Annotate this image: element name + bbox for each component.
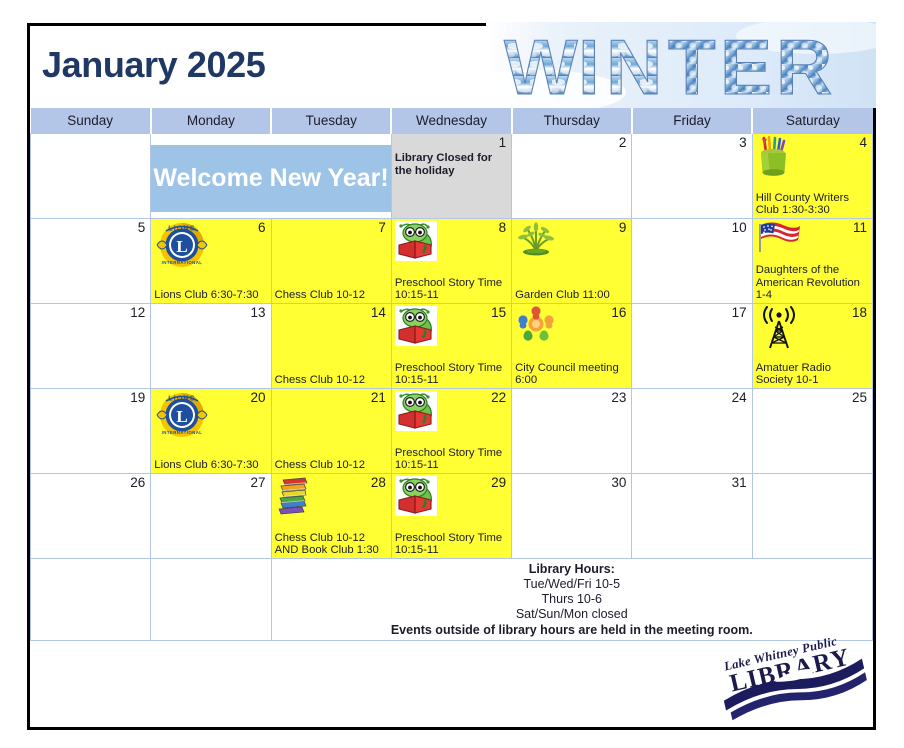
calendar-week-row: 26 27 28 (31, 474, 873, 559)
day-number: 5 (138, 220, 146, 235)
bookworm-icon (395, 221, 437, 261)
day-cell-19[interactable]: 19 (31, 389, 151, 474)
day-cell-empty (752, 474, 872, 559)
calendar-week-row: 5 6 L (31, 219, 873, 304)
weekday-header-friday: Friday (632, 108, 752, 134)
library-logo: Lake Whitney Public LIBRARY (714, 628, 869, 723)
day-cell-4[interactable]: 4 (752, 134, 872, 219)
weekday-header-wednesday: Wednesday (391, 108, 511, 134)
day-cell-2[interactable]: 2 (512, 134, 632, 219)
day-cell-21[interactable]: 21 Chess Club 10-12 (271, 389, 391, 474)
day-number: 31 (732, 475, 747, 490)
day-number: 30 (611, 475, 626, 490)
page-header: January 2025 (30, 26, 873, 108)
bookworm-icon (395, 476, 437, 516)
community-people-icon (515, 306, 557, 342)
day-cell-16[interactable]: 16 (512, 304, 632, 389)
day-cell-empty (31, 134, 151, 219)
svg-text:R: R (776, 23, 834, 108)
day-cell-13[interactable]: 13 (151, 304, 271, 389)
day-cell-8[interactable]: 8 (391, 219, 511, 304)
day-event-text: City Council meeting 6:00 (515, 362, 629, 387)
day-event-text: Hill County Writers Club 1:30-3:30 (756, 192, 870, 217)
day-number: 18 (852, 305, 867, 320)
day-cell-10[interactable]: 10 (632, 219, 752, 304)
day-number: 28 (371, 475, 386, 490)
day-number: 13 (251, 305, 266, 320)
day-number: 3 (739, 135, 747, 150)
day-cell-5[interactable]: 5 (31, 219, 151, 304)
calendar-week-row: 12 13 14 Chess Club 10-12 15 (31, 304, 873, 389)
bookworm-icon (395, 391, 437, 431)
day-number: 10 (732, 220, 747, 235)
book-stack-icon (275, 476, 313, 516)
day-cell-1[interactable]: 1 Library Closed for the holiday (391, 134, 511, 219)
day-event-text: Chess Club 10-12 (275, 374, 389, 387)
svg-text:L: L (177, 407, 188, 426)
day-cell-17[interactable]: 17 (632, 304, 752, 389)
welcome-new-year-banner: Welcome New Year! (151, 134, 392, 219)
day-number: 17 (732, 305, 747, 320)
day-event-text: Daughters of the American Revolution 1-4 (756, 264, 870, 302)
svg-text:INTERNATIONAL: INTERNATIONAL (162, 260, 203, 265)
day-event-text: Preschool Story Time 10:15-11 (395, 447, 509, 472)
day-number: 7 (378, 220, 386, 235)
svg-text:T: T (668, 23, 718, 108)
weekday-header-sunday: Sunday (31, 108, 151, 134)
day-cell-18[interactable]: 18 (752, 304, 872, 389)
weekday-header-row: Sunday Monday Tuesday Wednesday Thursday… (31, 108, 873, 134)
day-event-text: Chess Club 10-12 AND Book Club 1:30 (275, 532, 389, 557)
day-cell-22[interactable]: 22 (391, 389, 511, 474)
svg-text:INTERNATIONAL: INTERNATIONAL (162, 430, 203, 435)
weekday-header-tuesday: Tuesday (271, 108, 391, 134)
lions-club-logo-icon: L LIONS INTERNATIONAL (154, 391, 210, 439)
day-number: 15 (491, 305, 506, 320)
day-number: 1 (499, 135, 507, 150)
day-number: 27 (251, 475, 266, 490)
day-cell-23[interactable]: 23 (512, 389, 632, 474)
day-number: 14 (371, 305, 386, 320)
day-cell-26[interactable]: 26 (31, 474, 151, 559)
footer-empty-cell (31, 559, 151, 641)
calendar-page: January 2025 (27, 23, 876, 730)
day-cell-29[interactable]: 29 (391, 474, 511, 559)
library-hours-line: Tue/Wed/Fri 10-5 (276, 577, 868, 592)
svg-text:LIONS: LIONS (169, 396, 196, 403)
day-number: 26 (130, 475, 145, 490)
day-number: 23 (611, 390, 626, 405)
day-cell-3[interactable]: 3 (632, 134, 752, 219)
svg-text:L: L (177, 237, 188, 256)
library-hours-line: Thurs 10-6 (276, 592, 868, 607)
day-event-text: Lions Club 6:30-7:30 (154, 459, 268, 472)
day-event-text: Amatuer Radio Society 10-1 (756, 362, 870, 387)
day-number: 6 (258, 220, 266, 235)
day-number: 21 (371, 390, 386, 405)
welcome-banner-text: Welcome New Year! (151, 145, 391, 212)
day-cell-14[interactable]: 14 Chess Club 10-12 (271, 304, 391, 389)
day-cell-30[interactable]: 30 (512, 474, 632, 559)
calendar-week-row: 19 20 (31, 389, 873, 474)
day-cell-7[interactable]: 7 Chess Club 10-12 (271, 219, 391, 304)
library-hours-line: Sat/Sun/Mon closed (276, 607, 868, 622)
day-number: 2 (619, 135, 627, 150)
day-cell-9[interactable]: 9 (512, 219, 632, 304)
winter-season-artwork: W I N T E R (486, 22, 876, 108)
weekday-header-thursday: Thursday (512, 108, 632, 134)
svg-text:W: W (504, 23, 580, 108)
day-cell-11[interactable]: 11 (752, 219, 872, 304)
day-number: 8 (499, 220, 507, 235)
svg-text:LIONS: LIONS (169, 226, 196, 233)
day-event-text: Preschool Story Time 10:15-11 (395, 362, 509, 387)
day-event-text: Preschool Story Time 10:15-11 (395, 532, 509, 557)
day-cell-25[interactable]: 25 (752, 389, 872, 474)
day-event-text: Chess Club 10-12 (275, 459, 389, 472)
weekday-header-saturday: Saturday (752, 108, 872, 134)
calendar-grid: Sunday Monday Tuesday Wednesday Thursday… (30, 108, 873, 727)
day-number: 19 (130, 390, 145, 405)
day-event-text: Library Closed for the holiday (395, 152, 509, 178)
plant-sprout-icon (515, 221, 557, 257)
day-cell-31[interactable]: 31 (632, 474, 752, 559)
bookworm-icon (395, 306, 437, 346)
lions-club-logo-icon: L LIONS INTERNATIONAL (154, 221, 210, 269)
day-number: 4 (859, 135, 867, 150)
day-number: 24 (732, 390, 747, 405)
svg-text:I: I (578, 23, 602, 108)
radio-tower-icon (756, 306, 802, 350)
day-cell-20[interactable]: 20 L LIONS (151, 389, 271, 474)
day-cell-6[interactable]: 6 L LIONS (151, 219, 271, 304)
day-event-text: Preschool Story Time 10:15-11 (395, 277, 509, 302)
library-hours-title: Library Hours: (276, 562, 868, 577)
svg-text:N: N (606, 23, 664, 108)
day-number: 12 (130, 305, 145, 320)
day-number: 11 (853, 220, 867, 235)
day-cell-27[interactable]: 27 (151, 474, 271, 559)
day-event-text: Chess Club 10-12 (275, 289, 389, 302)
day-event-text: Garden Club 11:00 (515, 289, 629, 302)
day-event-text: Lions Club 6:30-7:30 (154, 289, 268, 302)
calendar-week-row: Welcome New Year! 1 Library Closed for t… (31, 134, 873, 219)
day-number: 22 (491, 390, 506, 405)
day-number: 9 (619, 220, 627, 235)
weekday-header-monday: Monday (151, 108, 271, 134)
page-title: January 2025 (42, 44, 265, 86)
american-flag-icon (756, 221, 802, 253)
day-number: 29 (491, 475, 506, 490)
pencil-cup-icon (756, 136, 792, 178)
day-cell-24[interactable]: 24 (632, 389, 752, 474)
day-number: 16 (611, 305, 626, 320)
day-number: 20 (251, 390, 266, 405)
footer-empty-cell (151, 559, 271, 641)
day-cell-28[interactable]: 28 (271, 474, 391, 559)
day-cell-15[interactable]: 15 (391, 304, 511, 389)
day-cell-12[interactable]: 12 (31, 304, 151, 389)
day-number: 25 (852, 390, 867, 405)
svg-text:E: E (720, 23, 774, 108)
